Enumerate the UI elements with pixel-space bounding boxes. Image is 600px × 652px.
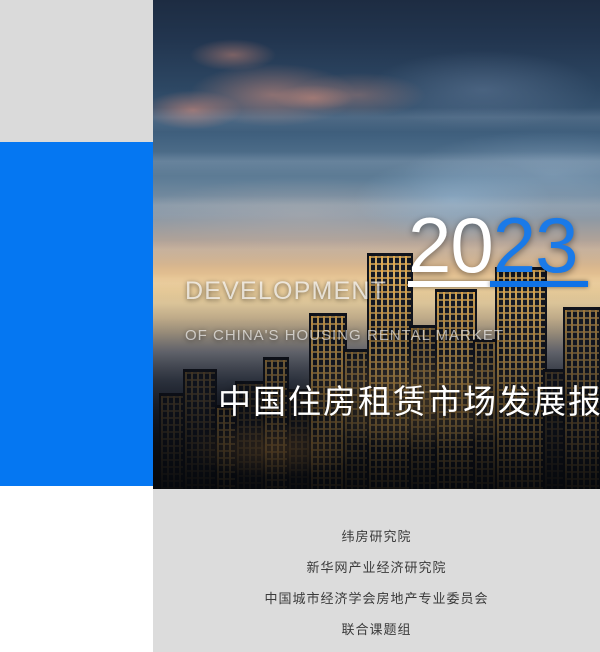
grey-accent-block: [0, 0, 153, 142]
english-title: DEVELOPMENT: [185, 277, 387, 306]
cover-year: 2023: [408, 206, 600, 284]
credits-block: 纬房研究院 新华网产业经济研究院 中国城市经济学会房地产专业委员会 联合课题组: [153, 530, 600, 652]
english-subtitle: OF CHINA'S HOUSING RENTAL MARKET: [185, 327, 504, 344]
year-blue-part: 23: [493, 201, 578, 289]
report-cover-page: 2023 DEVELOPMENT OF CHINA'S HOUSING RENT…: [0, 0, 600, 652]
left-white-panel: [0, 486, 153, 652]
rule-white-segment: [408, 281, 490, 287]
credit-line: 联合课题组: [153, 623, 600, 636]
chinese-title: 中国住房租赁市场发展报告: [218, 375, 600, 423]
credit-line: 纬房研究院: [153, 530, 600, 543]
year-underline-rule: [408, 281, 588, 287]
rule-blue-segment: [490, 281, 588, 287]
blue-accent-block: [0, 142, 153, 486]
year-white-part: 20: [408, 201, 493, 289]
year-text: 2023: [408, 206, 600, 284]
credit-line: 新华网产业经济研究院: [153, 561, 600, 574]
credit-line: 中国城市经济学会房地产专业委员会: [153, 592, 600, 605]
